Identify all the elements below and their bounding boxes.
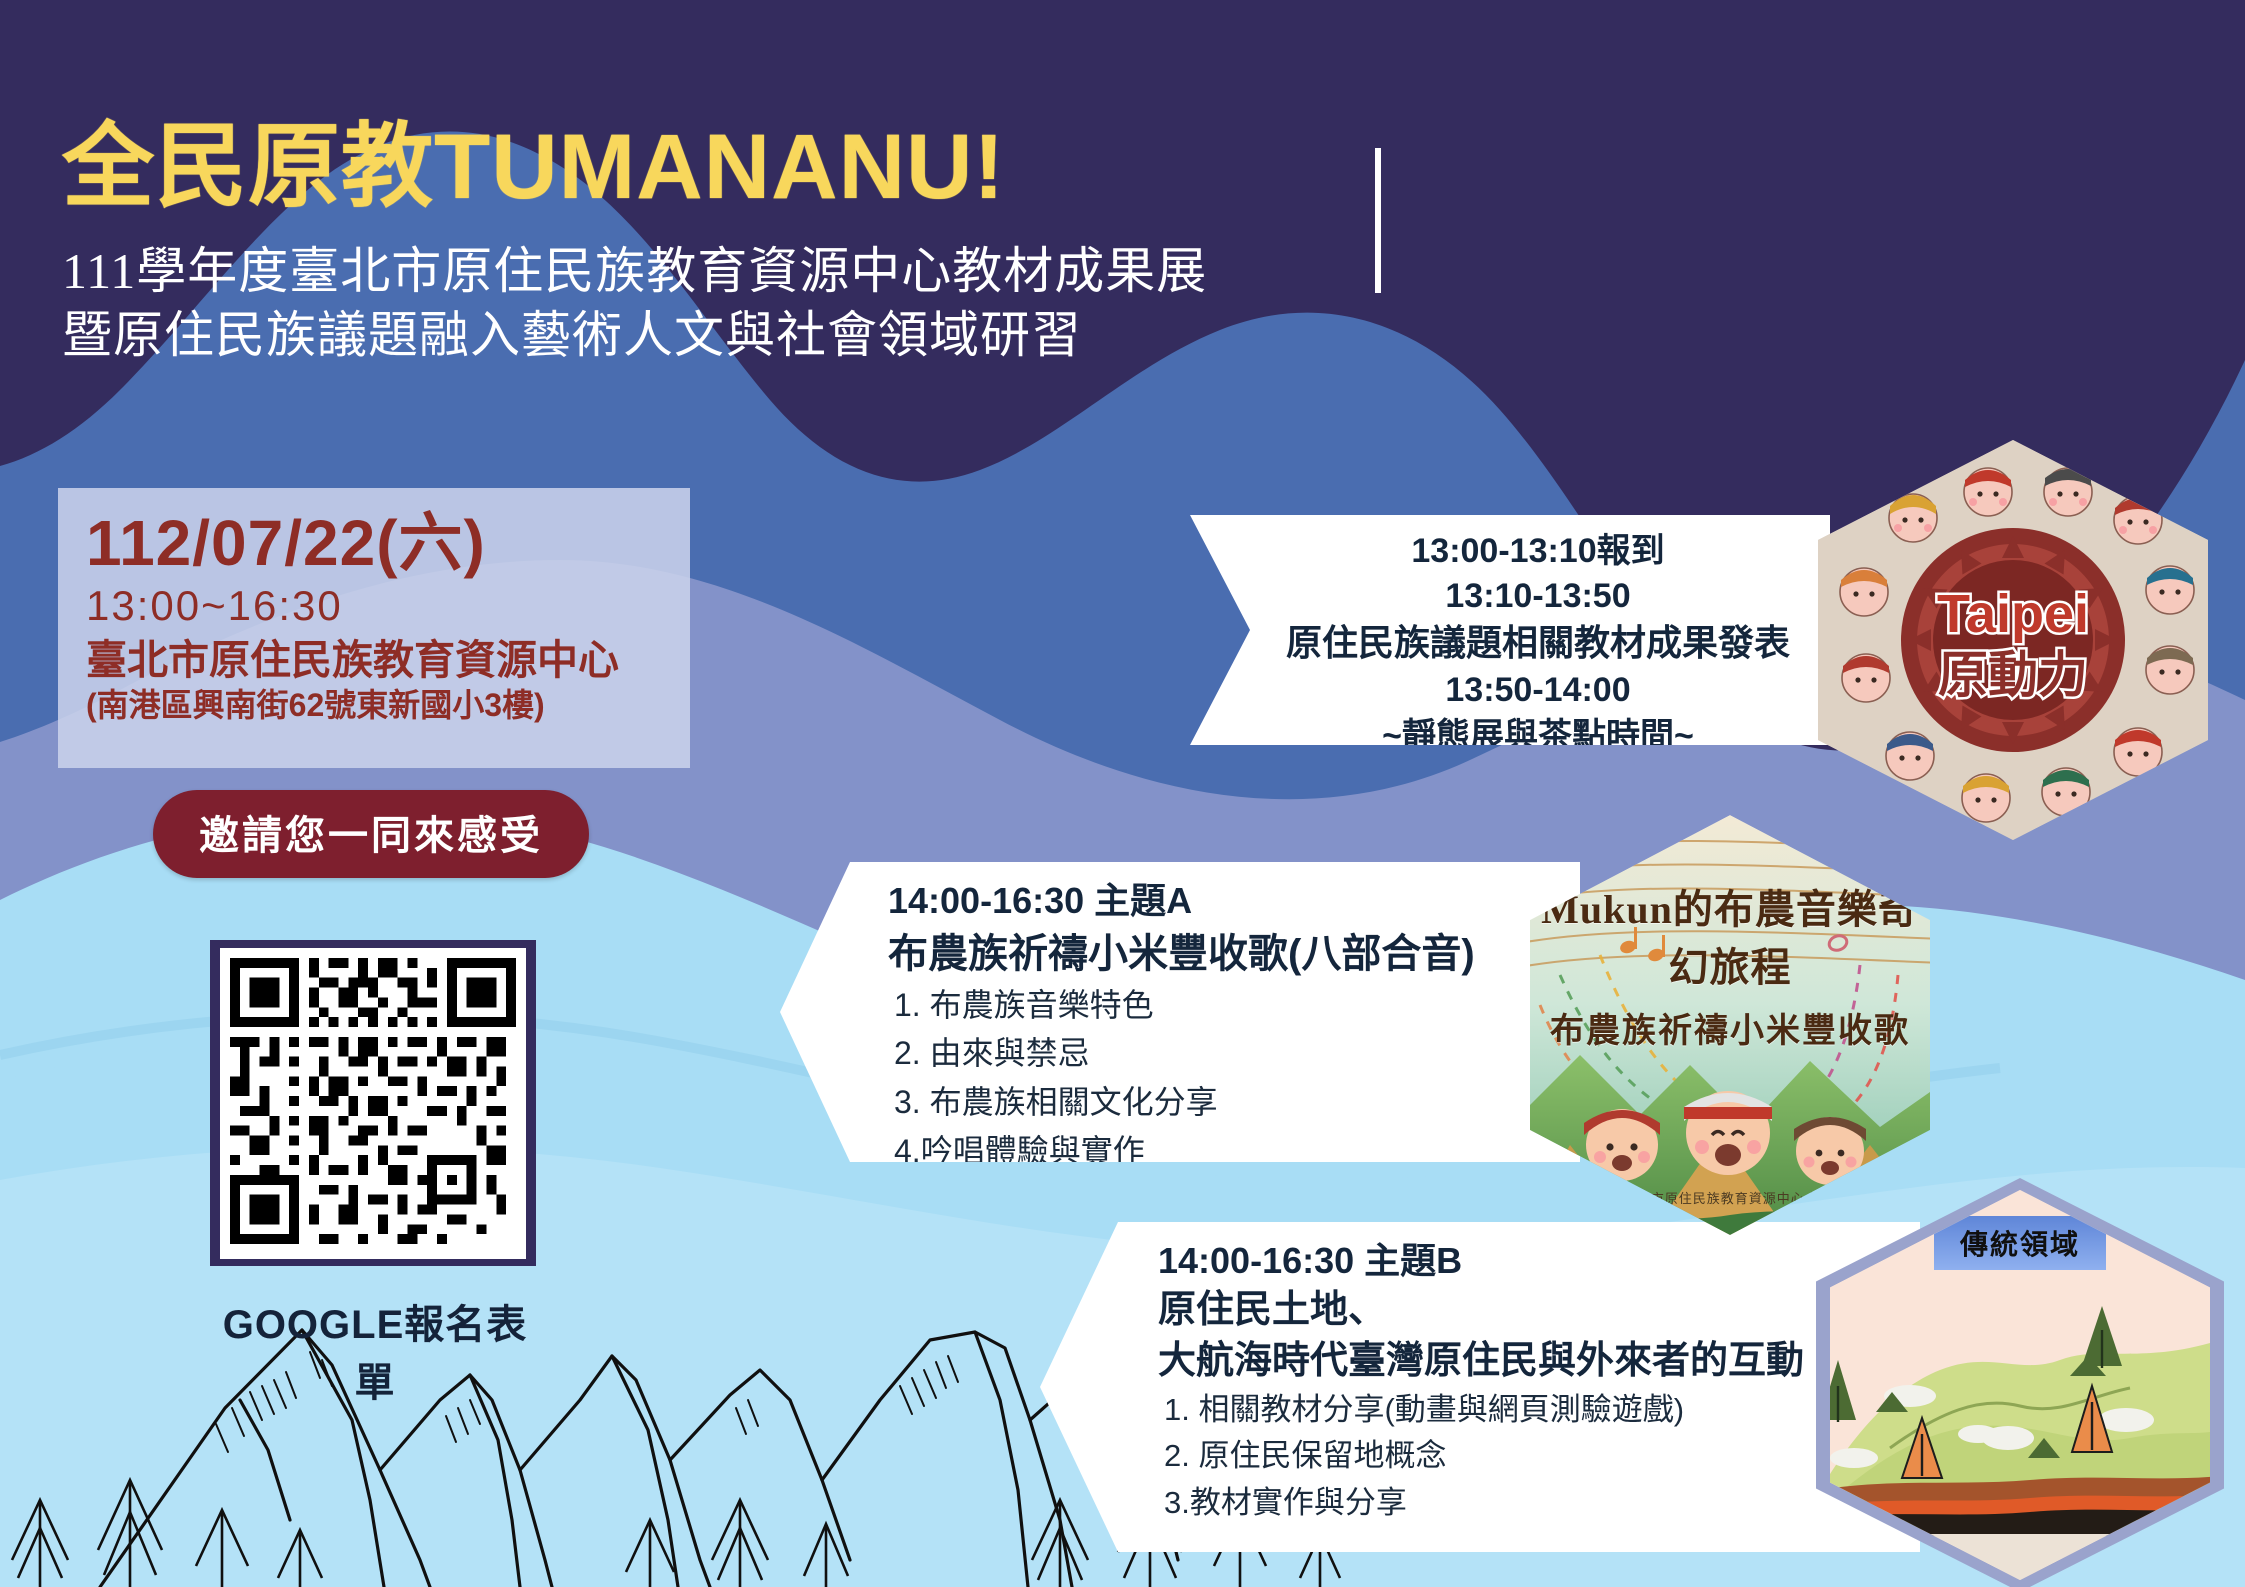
title-divider xyxy=(1375,148,1381,293)
title-block: 全民原教TUMANANU! 111學年度臺北市原住民族教育資源中心教材成果展 暨… xyxy=(62,118,1512,367)
subtitle-line-2: 暨原住民族議題融入藝術人文與社會領域研習 xyxy=(62,303,1512,367)
theme-a-item-2: 2. 由來與禁忌 xyxy=(894,1029,1554,1078)
theme-a-item-3: 3. 布農族相關文化分享 xyxy=(894,1078,1554,1127)
qr-code-frame xyxy=(210,940,536,1266)
theme-a-item-1: 1. 布農族音樂特色 xyxy=(894,981,1554,1030)
theme-b-item-1: 1. 相關教材分享(動畫與網頁測驗遊戲) xyxy=(1164,1387,1894,1434)
event-date: 112/07/22(六) xyxy=(86,510,664,577)
theme-b-item-2: 2. 原住民保留地概念 xyxy=(1164,1433,1894,1480)
event-info-box: 112/07/22(六) 13:00~16:30 臺北市原住民族教育資源中心 (… xyxy=(58,488,690,768)
qr-code-image[interactable] xyxy=(230,958,516,1244)
schedule-line-4: 13:50-14:00 xyxy=(1276,668,1800,713)
theme-b-heading-2: 大航海時代臺灣原住民與外來者的互動 xyxy=(1158,1336,1894,1387)
traditional-territory-figure: 傳統領域 xyxy=(1830,1190,2210,1580)
schedule-line-1: 13:00-13:10報到 xyxy=(1276,529,1800,574)
schedule-line-2: 13:10-13:50 xyxy=(1276,574,1800,619)
theme-b-body: 14:00-16:30 主題B 原住民土地、 大航海時代臺灣原住民與外來者的互動… xyxy=(1158,1238,1894,1526)
qr-code-inner xyxy=(220,948,526,1259)
event-time: 13:00~16:30 xyxy=(86,583,664,629)
event-address: (南港區興南街62號東新國小3樓) xyxy=(86,687,664,724)
theme-a-time: 14:00-16:30 主題A xyxy=(888,878,1554,925)
traditional-territory-hex: 傳統領域 xyxy=(1830,1190,2210,1580)
theme-a-heading: 布農族祈禱小米豐收歌(八部合音) xyxy=(888,927,1554,981)
schedule-card: 13:00-13:10報到 13:10-13:50 原住民族議題相關教材成果發表… xyxy=(1190,515,1830,745)
theme-b-card: 14:00-16:30 主題B 原住民土地、 大航海時代臺灣原住民與外來者的互動… xyxy=(1040,1222,1920,1552)
event-venue: 臺北市原住民族教育資源中心 xyxy=(86,637,664,684)
bunun-title-line-1: Mukun的布農音樂奇幻旅程 xyxy=(1530,877,1930,993)
theme-a-body: 14:00-16:30 主題A 布農族祈禱小米豐收歌(八部合音) 1. 布農族音… xyxy=(888,878,1554,1175)
schedule-card-body: 13:00-13:10報到 13:10-13:50 原住民族議題相關教材成果發表… xyxy=(1276,529,1800,759)
subtitle-block: 111學年度臺北市原住民族教育資源中心教材成果展 暨原住民族議題融入藝術人文與社… xyxy=(62,239,1512,367)
theme-b-heading-1: 原住民土地、 xyxy=(1158,1285,1894,1336)
taipei-wordmark-text: Taipei xyxy=(1937,584,2089,644)
subtitle-line-1: 111學年度臺北市原住民族教育資源中心教材成果展 xyxy=(62,239,1512,303)
taipei-wordmark-cn: 原動力 xyxy=(1938,647,2088,703)
schedule-line-3: 原住民族議題相關教材成果發表 xyxy=(1276,619,1800,668)
taipei-logo-artwork: Taipei 原動力 xyxy=(1818,440,2208,840)
page-title: 全民原教TUMANANU! xyxy=(62,118,1512,217)
traditional-territory-badge: 傳統領域 xyxy=(1934,1216,2106,1270)
qr-code-label: GOOGLE報名表單 xyxy=(210,1292,540,1408)
taipei-logo-figure: Taipei 原動力 xyxy=(1818,440,2208,840)
invite-banner: 邀請您一同來感受 xyxy=(153,790,589,878)
bunun-cover-title: Mukun的布農音樂奇幻旅程 布農族祈禱小米豐收歌 xyxy=(1530,877,1930,1052)
taipei-logo-hex: Taipei 原動力 xyxy=(1818,440,2208,840)
bunun-title-line-2: 布農族祈禱小米豐收歌 xyxy=(1530,1003,1930,1052)
theme-b-time: 14:00-16:30 主題B xyxy=(1158,1238,1894,1285)
poster-canvas: 全民原教TUMANANU! 111學年度臺北市原住民族教育資源中心教材成果展 暨… xyxy=(0,0,2245,1587)
qr-code-block[interactable]: GOOGLE報名表單 xyxy=(210,940,540,1408)
theme-a-card: 14:00-16:30 主題A 布農族祈禱小米豐收歌(八部合音) 1. 布農族音… xyxy=(780,862,1580,1162)
theme-b-item-3: 3.教材實作與分享 xyxy=(1164,1480,1894,1527)
